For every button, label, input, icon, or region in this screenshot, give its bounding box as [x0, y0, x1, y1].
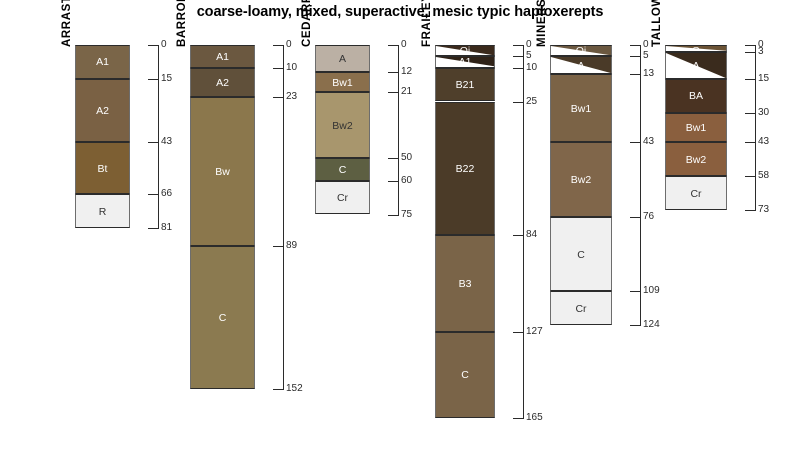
- depth-tick: [273, 246, 284, 247]
- soil-profile-tallowbox: TALLOWBOXOABABw1Bw2Cr031530435873: [665, 0, 787, 450]
- horizon-label: Bw: [191, 167, 254, 178]
- profile-name-label: BARRON: [176, 0, 188, 47]
- depth-tick-label: 0: [643, 40, 649, 50]
- horizon-a2: A2: [75, 79, 130, 142]
- depth-tick-label: 73: [758, 205, 769, 215]
- depth-tick-label: 81: [161, 223, 172, 233]
- depth-tick-label: 84: [526, 230, 537, 240]
- horizon-label: Bw1: [316, 78, 369, 89]
- horizon-label: Bw2: [316, 121, 369, 132]
- depth-tick-label: 13: [643, 69, 654, 79]
- horizon-label: Bw2: [666, 155, 726, 166]
- horizon-label: Oi: [436, 46, 494, 56]
- depth-tick-label: 109: [643, 286, 660, 296]
- depth-axis: [398, 45, 399, 215]
- depth-tick-label: 15: [758, 74, 769, 84]
- depth-tick-label: 0: [401, 40, 407, 50]
- horizon-label: A1: [191, 52, 254, 63]
- horizon-column: A1A2BtR: [75, 45, 130, 228]
- horizon-c: C: [550, 217, 612, 292]
- depth-tick: [388, 45, 399, 46]
- horizon-c: C: [435, 332, 495, 418]
- horizon-bw1: Bw1: [315, 72, 370, 92]
- horizon-column: ABw1Bw2CCr: [315, 45, 370, 215]
- horizon-label: Bw1: [666, 123, 726, 134]
- depth-tick-label: 15: [161, 74, 172, 84]
- horizon-label: C: [316, 165, 369, 176]
- depth-tick: [388, 92, 399, 93]
- profile-name-label: FRAILEY: [421, 0, 433, 47]
- profile-name-label: MINERSVILLE: [536, 0, 548, 47]
- depth-tick: [273, 97, 284, 98]
- depth-tick-label: 50: [401, 153, 412, 163]
- horizon-label: A2: [76, 106, 129, 117]
- depth-tick-label: 5: [526, 51, 532, 61]
- depth-tick-label: 0: [161, 40, 167, 50]
- horizon-label: B21: [436, 80, 494, 91]
- horizon-label: Bt: [76, 164, 129, 175]
- horizon-b3: B3: [435, 235, 495, 332]
- depth-tick: [148, 228, 159, 229]
- depth-tick-label: 152: [286, 384, 303, 394]
- depth-tick: [148, 45, 159, 46]
- depth-tick: [148, 79, 159, 80]
- depth-tick-label: 124: [643, 320, 660, 330]
- horizon-bw2: Bw2: [550, 142, 612, 217]
- depth-tick: [630, 217, 641, 218]
- profile-name-label: TALLOWBOX: [651, 0, 663, 47]
- depth-tick: [745, 45, 756, 46]
- horizon-b22: B22: [435, 102, 495, 235]
- depth-tick: [745, 142, 756, 143]
- depth-tick-label: 25: [526, 97, 537, 107]
- depth-tick: [745, 52, 756, 53]
- horizon-label: B3: [436, 279, 494, 290]
- depth-tick: [148, 142, 159, 143]
- horizon-label: A: [551, 61, 611, 72]
- depth-tick-label: 10: [286, 63, 297, 73]
- horizon-a1: A1: [190, 45, 255, 68]
- depth-tick: [513, 332, 524, 333]
- horizon-a: A: [665, 52, 727, 79]
- depth-tick: [513, 45, 524, 46]
- soil-profile-barron: BARRONA1A2BwC0102389152: [190, 0, 315, 450]
- horizon-bw2: Bw2: [665, 142, 727, 176]
- horizon-ba: BA: [665, 79, 727, 113]
- horizon-label: Cr: [666, 189, 726, 200]
- depth-tick-label: 127: [526, 327, 543, 337]
- horizon-a1: A1: [435, 56, 495, 67]
- horizon-label: BA: [666, 91, 726, 102]
- depth-tick: [630, 291, 641, 292]
- depth-tick-label: 23: [286, 92, 297, 102]
- depth-tick: [513, 418, 524, 419]
- depth-tick: [745, 210, 756, 211]
- depth-tick-label: 43: [643, 137, 654, 147]
- horizon-label: Bw1: [551, 104, 611, 115]
- horizon-column: OiABw1Bw2CCr: [550, 45, 612, 325]
- depth-tick-label: 12: [401, 67, 412, 77]
- horizon-label: A2: [191, 78, 254, 89]
- horizon-oi: Oi: [435, 45, 495, 56]
- soil-profile-cedarpines: CEDARPINESABw1Bw2CCr01221506075: [315, 0, 430, 450]
- profile-name-label: CEDARPINES: [301, 0, 313, 47]
- depth-tick: [273, 45, 284, 46]
- horizon-label: A: [666, 61, 726, 72]
- depth-tick-label: 43: [161, 137, 172, 147]
- horizon-c: C: [315, 158, 370, 181]
- depth-tick-label: 75: [401, 210, 412, 220]
- horizon-bt: Bt: [75, 142, 130, 194]
- depth-tick: [630, 142, 641, 143]
- depth-tick: [630, 45, 641, 46]
- soil-profile-arrastre: ARRASTREA1A2BtR015436681: [75, 0, 190, 450]
- depth-tick-label: 0: [286, 40, 292, 50]
- depth-tick: [273, 389, 284, 390]
- depth-tick: [513, 56, 524, 57]
- depth-tick: [513, 68, 524, 69]
- horizon-label: C: [436, 370, 494, 381]
- horizon-a: A: [315, 45, 370, 72]
- horizon-o: O: [665, 45, 727, 52]
- depth-tick: [630, 74, 641, 75]
- depth-tick: [148, 194, 159, 195]
- depth-tick-label: 58: [758, 171, 769, 181]
- horizon-bw1: Bw1: [550, 74, 612, 142]
- horizon-label: Bw2: [551, 175, 611, 186]
- horizon-label: A1: [436, 57, 494, 67]
- horizon-b21: B21: [435, 68, 495, 102]
- depth-tick: [513, 235, 524, 236]
- depth-axis: [158, 45, 159, 228]
- horizon-label: A1: [76, 57, 129, 68]
- horizon-a: A: [550, 56, 612, 74]
- depth-tick: [388, 72, 399, 73]
- depth-tick: [745, 176, 756, 177]
- depth-tick: [388, 215, 399, 216]
- depth-axis: [755, 45, 756, 210]
- depth-tick-label: 165: [526, 413, 543, 423]
- horizon-cr: Cr: [665, 176, 727, 210]
- profile-name-label: ARRASTRE: [61, 0, 73, 47]
- depth-tick: [513, 102, 524, 103]
- depth-axis: [640, 45, 641, 325]
- depth-tick-label: 5: [643, 51, 649, 61]
- horizon-column: OiA1B21B22B3C: [435, 45, 495, 418]
- horizon-a2: A2: [190, 68, 255, 97]
- horizon-bw2: Bw2: [315, 92, 370, 158]
- horizon-label: C: [191, 313, 254, 324]
- depth-tick-label: 66: [161, 189, 172, 199]
- depth-tick: [273, 68, 284, 69]
- depth-tick-label: 43: [758, 137, 769, 147]
- horizon-cr: Cr: [315, 181, 370, 215]
- depth-tick-label: 60: [401, 176, 412, 186]
- depth-tick-label: 10: [526, 63, 537, 73]
- depth-tick-label: 0: [526, 40, 532, 50]
- horizon-label: Cr: [316, 193, 369, 204]
- horizon-cr: Cr: [550, 291, 612, 325]
- horizon-a1: A1: [75, 45, 130, 79]
- depth-tick: [388, 158, 399, 159]
- depth-tick-label: 3: [758, 47, 764, 57]
- depth-tick-label: 76: [643, 212, 654, 222]
- depth-tick-label: 30: [758, 108, 769, 118]
- horizon-r: R: [75, 194, 130, 228]
- horizon-bw1: Bw1: [665, 113, 727, 142]
- horizon-column: A1A2BwC: [190, 45, 255, 389]
- depth-tick-label: 21: [401, 87, 412, 97]
- horizon-c: C: [190, 246, 255, 388]
- horizon-label: B22: [436, 164, 494, 175]
- horizon-label: A: [316, 54, 369, 65]
- horizon-oi: Oi: [550, 45, 612, 56]
- depth-tick: [630, 325, 641, 326]
- horizon-label: Cr: [551, 304, 611, 315]
- horizon-label: R: [76, 207, 129, 218]
- depth-tick: [745, 113, 756, 114]
- soil-profile-frailey: FRAILEYOiA1B21B22B3C05102584127165: [435, 0, 555, 450]
- depth-tick: [388, 181, 399, 182]
- soil-profile-minersville: MINERSVILLEOiABw1Bw2CCr05134376109124: [550, 0, 672, 450]
- depth-tick: [630, 56, 641, 57]
- horizon-label: C: [551, 250, 611, 261]
- depth-tick-label: 89: [286, 241, 297, 251]
- horizon-bw: Bw: [190, 97, 255, 246]
- depth-tick: [745, 79, 756, 80]
- horizon-label: Oi: [551, 46, 611, 56]
- horizon-column: OABABw1Bw2Cr: [665, 45, 727, 210]
